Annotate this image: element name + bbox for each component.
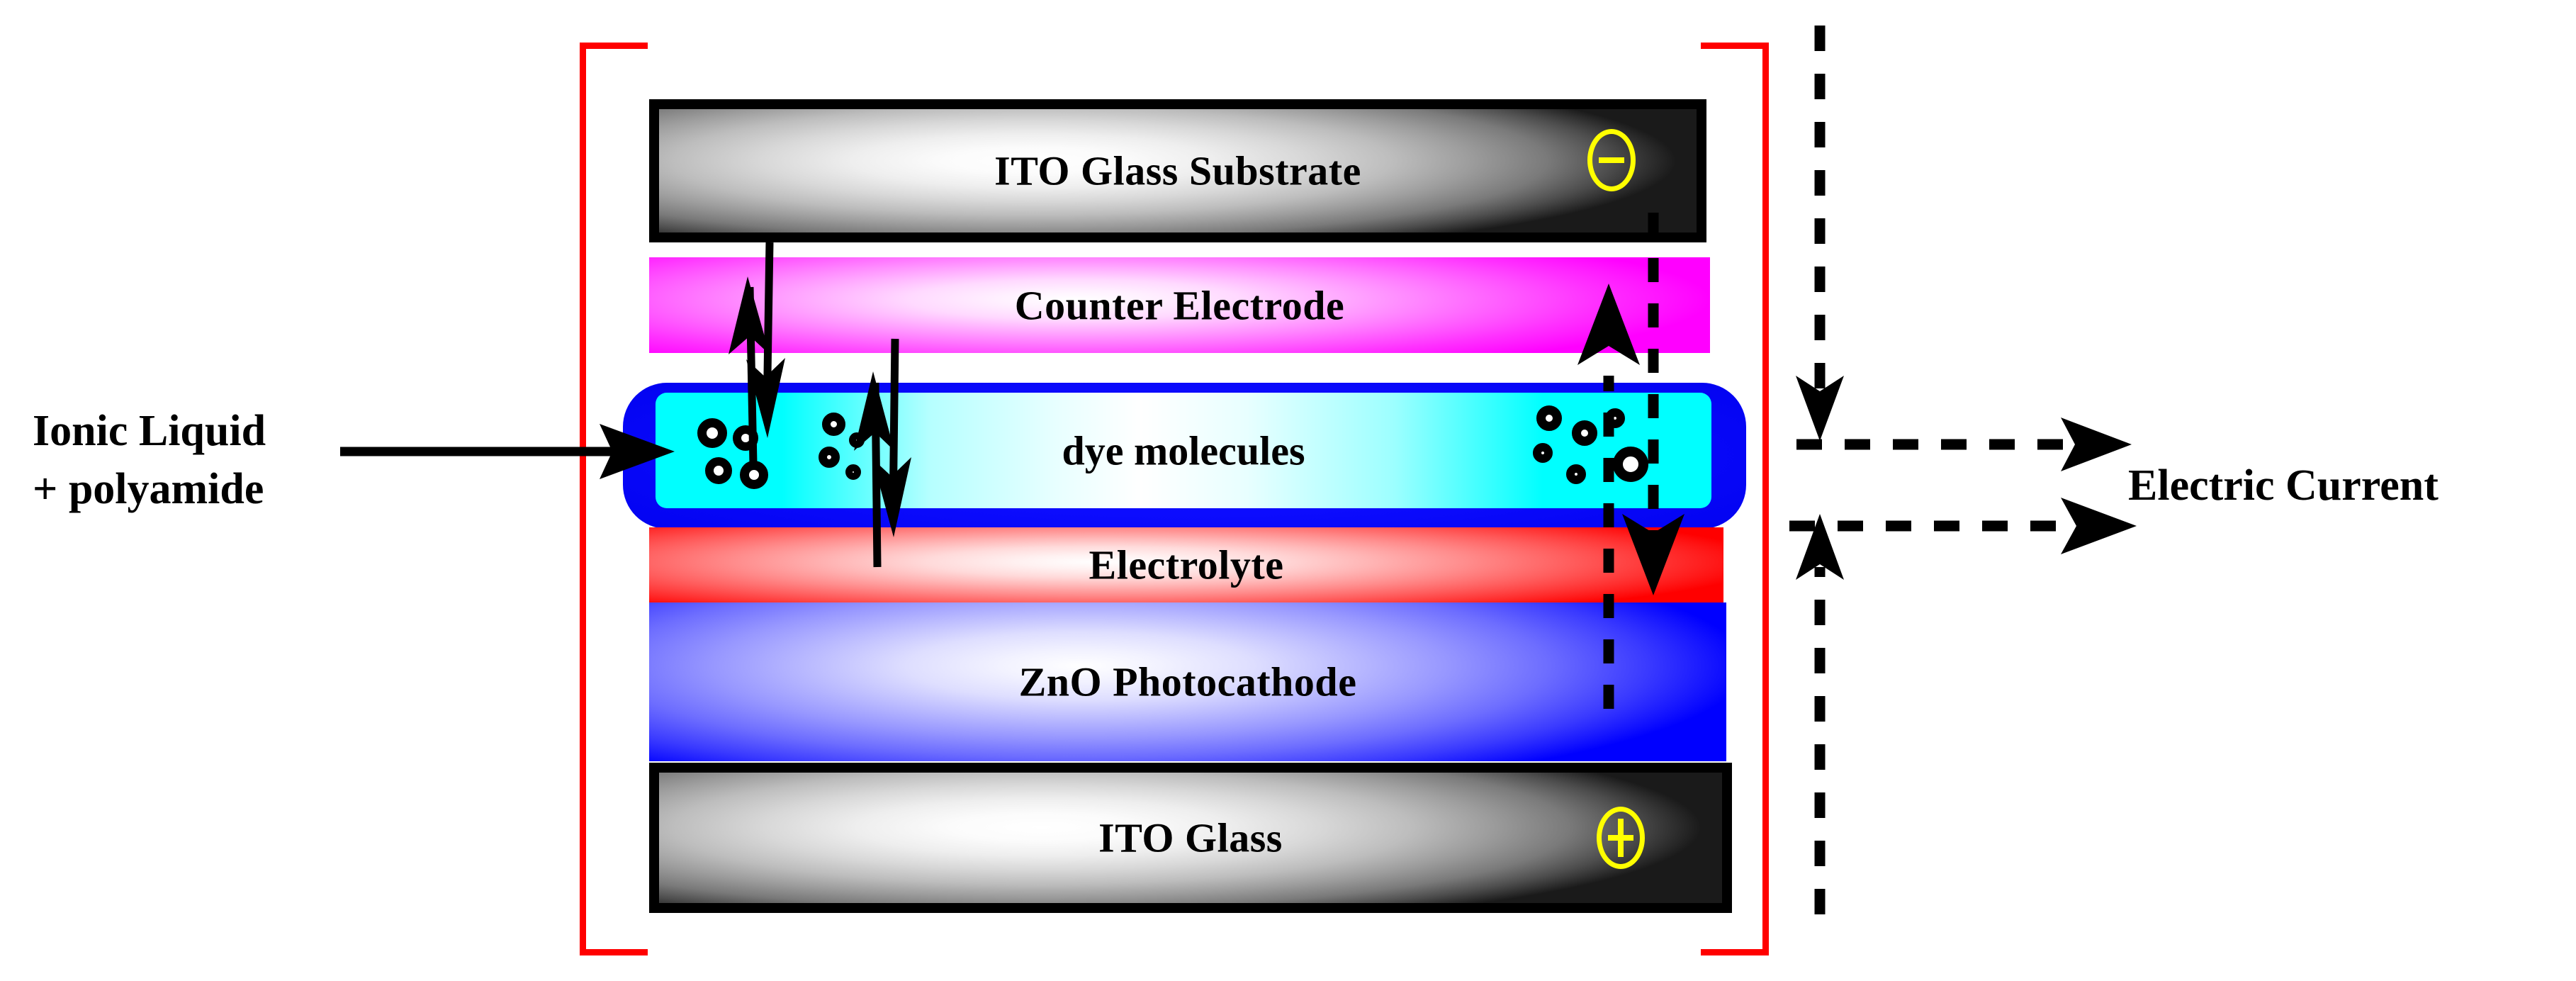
molecule <box>849 432 865 448</box>
right-bracket-bottom-arm <box>1701 949 1769 955</box>
molecule <box>697 418 727 448</box>
left-bracket-stem <box>580 43 586 955</box>
layer-zno-photocathode[interactable]: ZnO Photocathode <box>649 602 1726 761</box>
layer-label-electrolyte: Electrolyte <box>649 542 1723 589</box>
layer-ito-glass[interactable]: ITO Glass <box>649 763 1732 913</box>
layer-label-ito-glass-substrate: ITO Glass Substrate <box>659 147 1697 195</box>
diagram-canvas: ITO Glass Substrate Counter Electrode dy… <box>0 0 2576 981</box>
molecule <box>1566 464 1586 484</box>
molecule <box>1533 443 1553 463</box>
layer-electrolyte[interactable]: Electrolyte <box>649 527 1723 602</box>
right-bracket-stem <box>1762 43 1769 955</box>
plus-badge <box>1597 807 1645 869</box>
electric-current-label: Electric Current <box>2128 461 2439 511</box>
right-bracket-top-arm <box>1701 43 1769 49</box>
layer-label-dye-molecules: dye molecules <box>656 427 1711 474</box>
left-bracket-bottom-arm <box>580 949 648 955</box>
left-bracket-top-arm <box>580 43 648 49</box>
ionic-liquid-label-line1: Ionic Liquid <box>33 406 266 456</box>
molecule <box>740 461 768 489</box>
plus-sign-vertical <box>1618 819 1624 856</box>
layer-label-zno-photocathode: ZnO Photocathode <box>649 658 1726 706</box>
external-circuit-up <box>1796 514 1844 914</box>
layer-label-ito-glass: ITO Glass <box>659 814 1722 862</box>
molecule <box>1613 447 1648 482</box>
molecule <box>1605 408 1625 428</box>
molecule <box>822 413 845 436</box>
electric-current-arrow-upper <box>1796 417 2132 471</box>
molecule <box>845 464 861 480</box>
layer-ito-glass-substrate[interactable]: ITO Glass Substrate <box>649 99 1706 242</box>
ionic-liquid-label-line2: + polyamide <box>33 464 264 515</box>
molecule <box>705 457 732 484</box>
molecule <box>733 425 758 451</box>
layer-counter-electrode[interactable]: Counter Electrode <box>649 257 1710 353</box>
molecule <box>1572 420 1597 446</box>
external-circuit-down <box>1796 26 1844 441</box>
molecule <box>819 447 840 468</box>
minus-badge <box>1587 129 1636 191</box>
minus-sign <box>1599 157 1625 163</box>
molecule <box>1536 405 1562 431</box>
electric-current-arrow-lower <box>1789 498 2137 554</box>
layer-label-counter-electrode: Counter Electrode <box>649 281 1710 329</box>
